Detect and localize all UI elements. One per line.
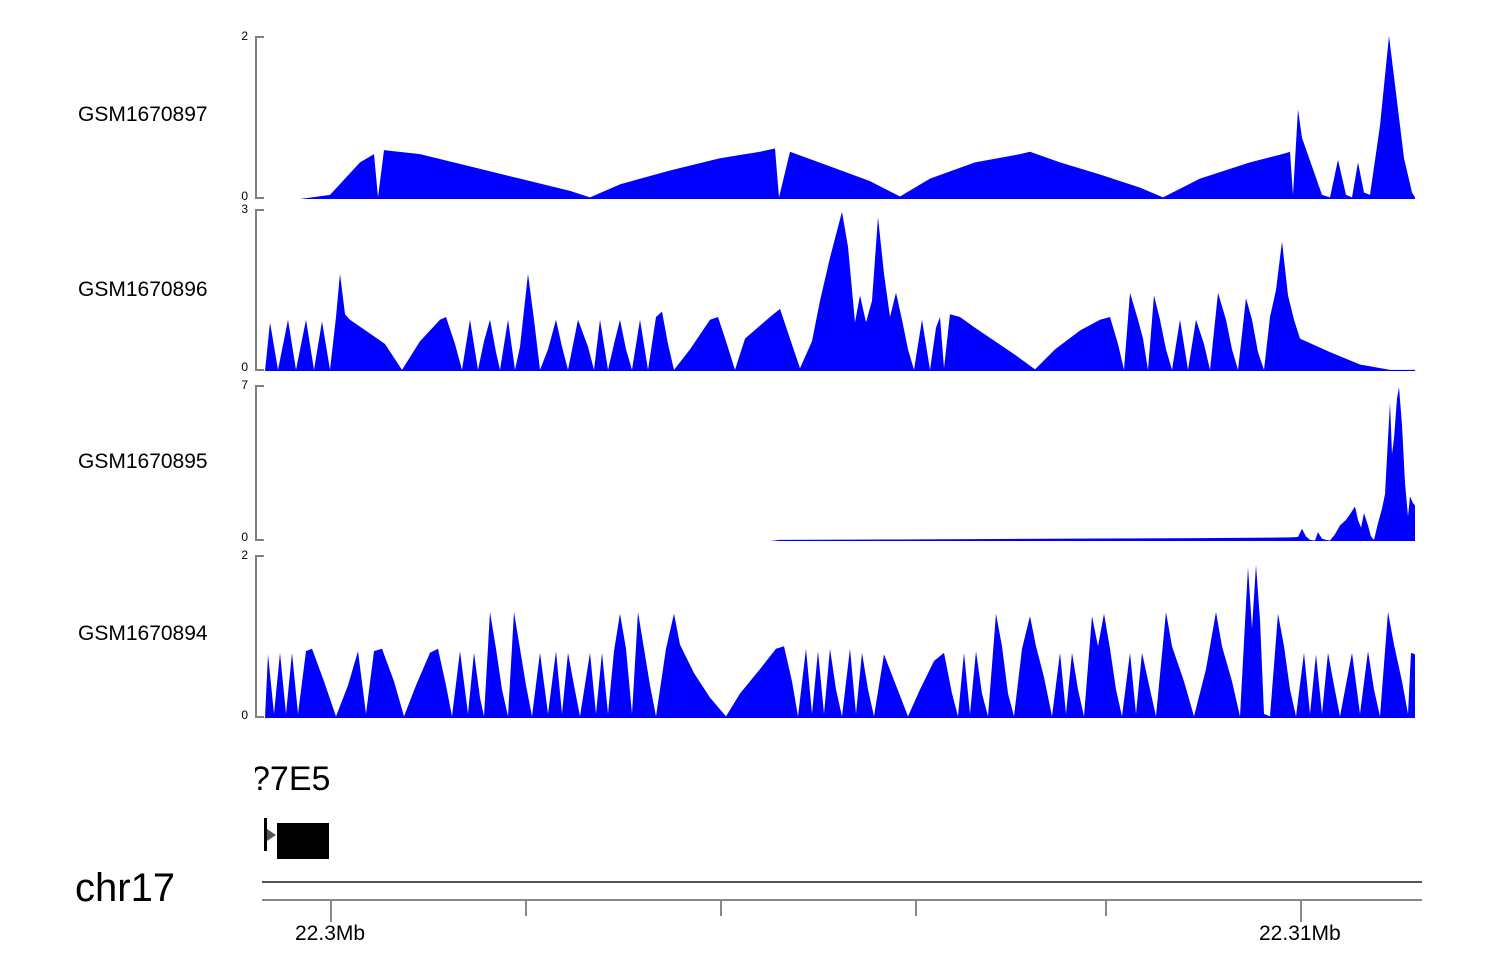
- ruler-line-top: [262, 881, 1422, 883]
- gene-model-row[interactable]: [255, 818, 1415, 854]
- ruler-tick-3: [915, 900, 917, 916]
- ruler-line-baseline: [262, 899, 1422, 901]
- axis-max-gsm1670895: 7: [226, 378, 248, 392]
- ruler-tick-label-5: 22.31Mb: [1259, 922, 1341, 946]
- ruler-tick-5: [1300, 900, 1302, 922]
- coverage-area-gsm1670896: [265, 212, 1415, 371]
- coverage-area-gsm1670895: [265, 387, 1415, 541]
- axis-bracket-gsm1670894: [255, 555, 264, 718]
- track-label-gsm1670896: GSM1670896: [78, 278, 208, 302]
- gene-label-clip: ?7E5: [255, 760, 1415, 810]
- coverage-track-gsm1670894[interactable]: GSM1670894 2 0: [0, 0, 1500, 200]
- ruler-tick-4: [1105, 900, 1107, 916]
- axis-min-gsm1670895: 0: [226, 530, 248, 544]
- axis-bracket-gsm1670896: [255, 209, 264, 371]
- track-label-gsm1670895: GSM1670895: [78, 450, 208, 474]
- coverage-plot-gsm1670896[interactable]: [265, 209, 1415, 371]
- coverage-plot-gsm1670895[interactable]: [265, 385, 1415, 541]
- genome-browser-view: GSM1670897 2 0 GSM1670896 3 0 GSM1670895…: [0, 0, 1500, 980]
- ruler-tick-2: [720, 900, 722, 916]
- axis-min-gsm1670894: 0: [226, 708, 248, 722]
- chromosome-label: chr17: [75, 866, 175, 911]
- track-label-gsm1670894: GSM1670894: [78, 622, 208, 646]
- ruler-tick-label-0: 22.3Mb: [295, 922, 365, 946]
- gene-strand-arrow-icon: [267, 829, 276, 841]
- coverage-area-gsm1670894: [265, 565, 1415, 718]
- axis-bracket-gsm1670895: [255, 385, 264, 541]
- gene-exon-block[interactable]: [277, 823, 329, 859]
- axis-max-gsm1670894: 2: [226, 548, 248, 562]
- axis-max-gsm1670896: 3: [226, 202, 248, 216]
- ruler-tick-0: [330, 900, 332, 922]
- axis-min-gsm1670896: 0: [226, 360, 248, 374]
- ruler-tick-1: [525, 900, 527, 916]
- gene-name-label: ?7E5: [255, 760, 330, 799]
- coverage-plot-gsm1670894[interactable]: [265, 555, 1415, 718]
